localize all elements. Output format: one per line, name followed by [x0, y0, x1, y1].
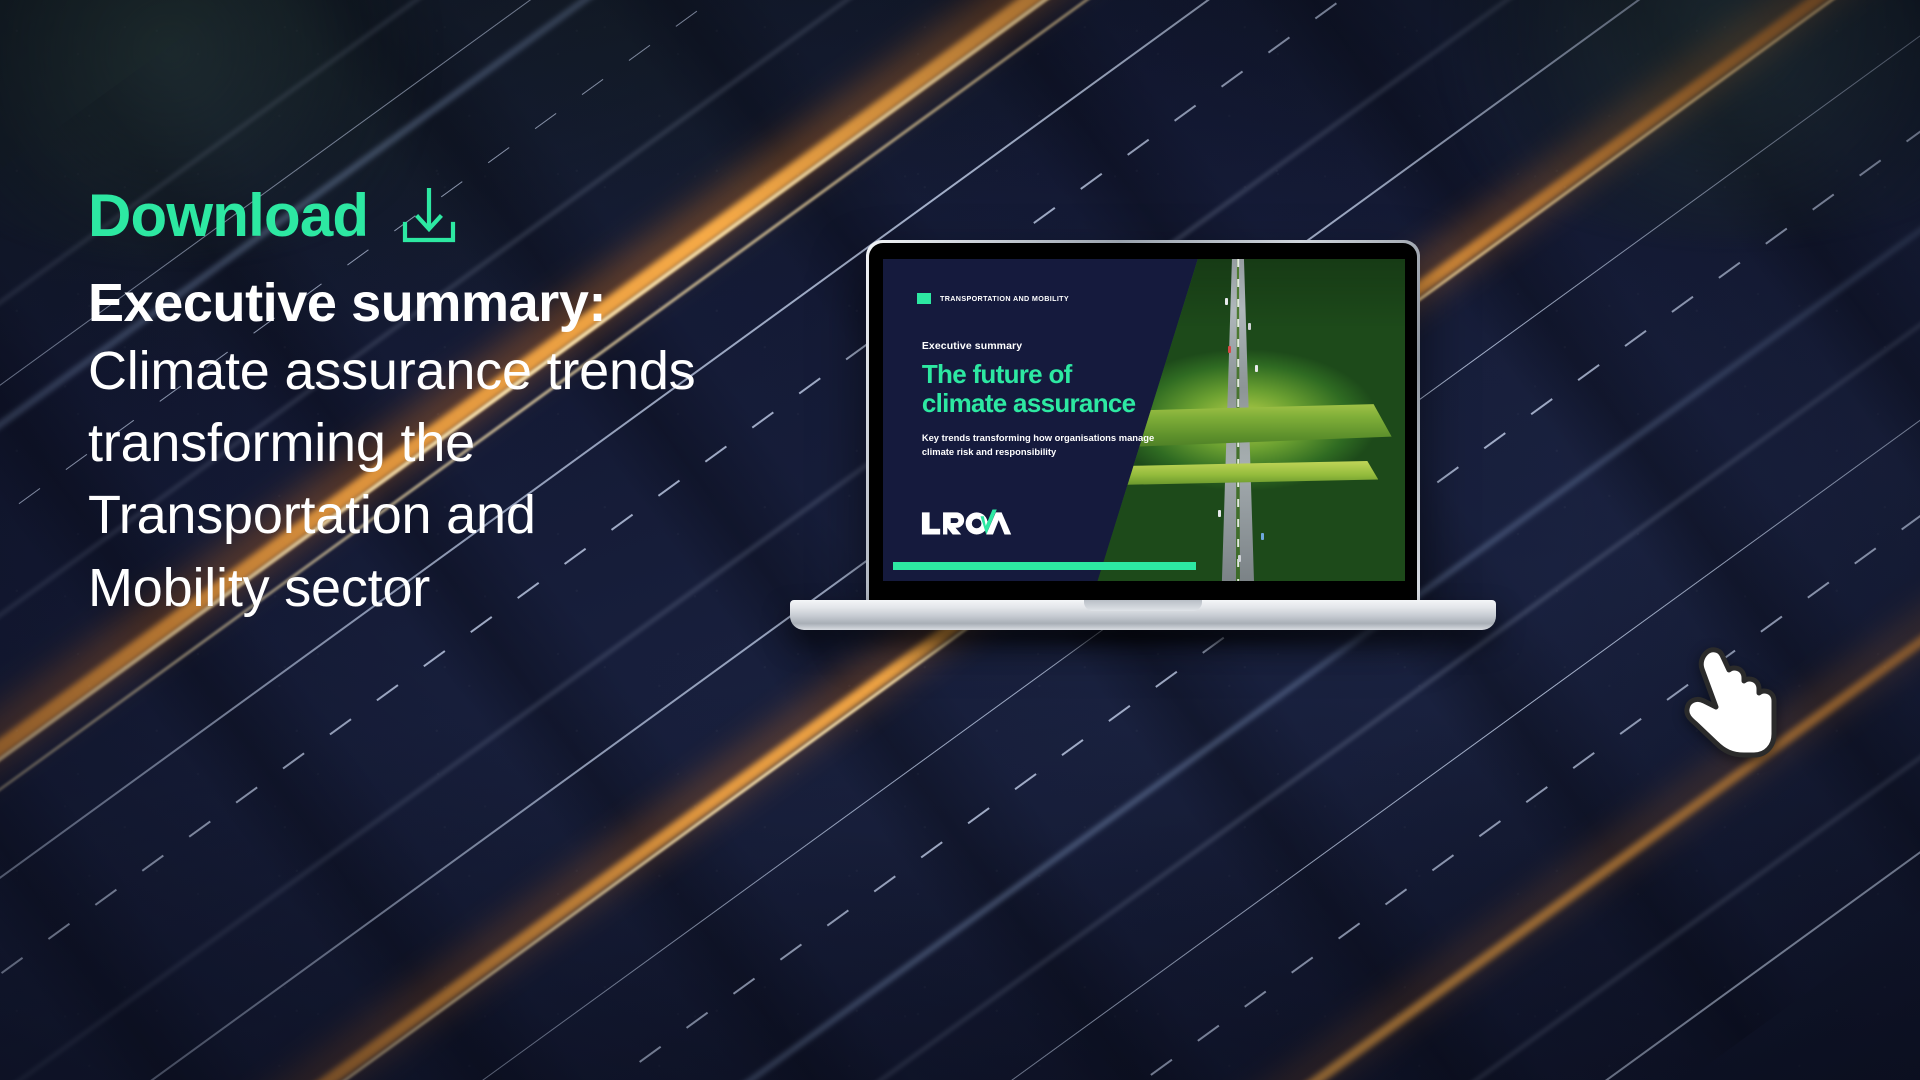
laptop-base-notch: [1084, 600, 1202, 611]
car-dot: [1225, 298, 1228, 305]
car-dot: [1255, 365, 1258, 372]
car-dot: [1228, 346, 1231, 353]
cover-accent-bar: [893, 562, 1196, 570]
download-label: Download: [88, 186, 368, 246]
laptop-base: [790, 600, 1496, 630]
cover-eyebrow: TRANSPORTATION AND MOBILITY: [917, 293, 1069, 304]
cover-subtitle-line-1: Key trends transforming how organisation…: [922, 432, 1154, 443]
page-title: Executive summary: Climate assurance tre…: [88, 272, 848, 624]
laptop-bezel: TRANSPORTATION AND MOBILITY Executive su…: [869, 243, 1417, 607]
promo-copy: Download Executive summary: Climate assu…: [88, 186, 848, 624]
cover-title-line-2: climate assurance: [922, 388, 1136, 418]
cover-kicker: Executive summary: [922, 340, 1022, 352]
cover-subtitle-line-2: climate risk and responsibility: [922, 446, 1056, 457]
headline-line-1: Climate assurance trends: [88, 335, 848, 407]
download-arrow-icon[interactable]: [398, 188, 460, 244]
headline-line-2: transforming the: [88, 407, 848, 479]
car-dot: [1248, 323, 1251, 330]
laptop-lid: TRANSPORTATION AND MOBILITY Executive su…: [866, 240, 1420, 610]
eyebrow-label: TRANSPORTATION AND MOBILITY: [940, 294, 1069, 303]
car-dot: [1218, 510, 1221, 517]
car-dot: [1238, 555, 1241, 562]
car-dot: [1261, 533, 1264, 540]
headline-line-3: Transportation and: [88, 479, 848, 551]
cover-title: The future of climate assurance: [922, 360, 1200, 416]
download-cta[interactable]: Download: [88, 186, 848, 246]
laptop-screen[interactable]: TRANSPORTATION AND MOBILITY Executive su…: [883, 259, 1405, 581]
headline-line-4: Mobility sector: [88, 552, 848, 624]
headline-bold-line: Executive summary:: [88, 272, 848, 335]
document-cover: TRANSPORTATION AND MOBILITY Executive su…: [883, 259, 1405, 581]
promo-banner: Download Executive summary: Climate assu…: [0, 0, 1920, 1080]
eyebrow-square-icon: [917, 293, 931, 304]
pointing-hand-cursor: [1678, 645, 1782, 763]
laptop-mockup: TRANSPORTATION AND MOBILITY Executive su…: [866, 240, 1436, 640]
lrqa-logo: [920, 506, 1016, 538]
cover-title-line-1: The future of: [922, 359, 1072, 389]
cover-text-panel: TRANSPORTATION AND MOBILITY Executive su…: [883, 259, 1207, 581]
cover-subtitle: Key trends transforming how organisation…: [922, 431, 1181, 458]
